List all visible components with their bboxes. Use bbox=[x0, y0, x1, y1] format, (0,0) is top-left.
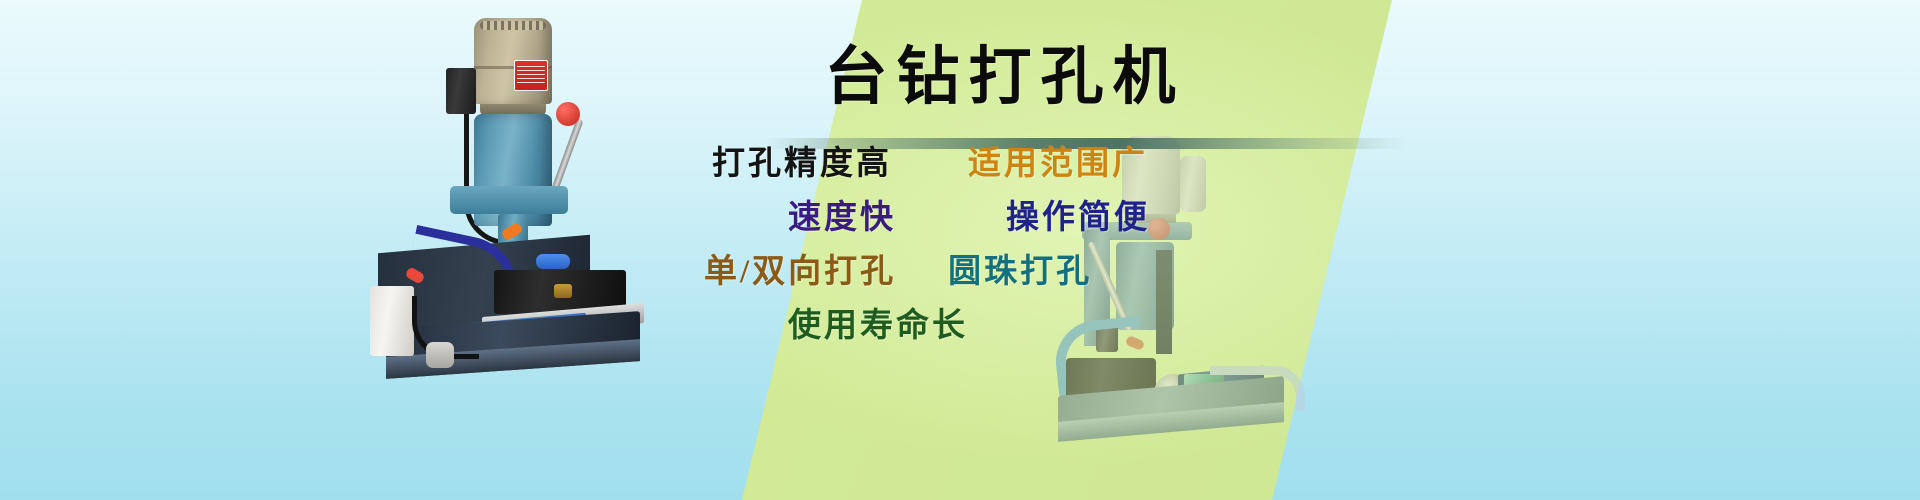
capacitor-box bbox=[446, 68, 476, 114]
drill-head-arm bbox=[450, 186, 568, 214]
power-plug bbox=[426, 342, 454, 368]
vise-brass-part bbox=[554, 284, 572, 298]
feature-item: 打孔精度高 bbox=[712, 144, 892, 184]
feature-item: 使用寿命长 bbox=[788, 306, 968, 346]
feature-item: 适用范围广 bbox=[968, 144, 1148, 184]
feature-row-2: 速度快 操作简便 bbox=[650, 198, 1370, 238]
motor-nameplate bbox=[514, 60, 548, 91]
feature-row-1: 打孔精度高 适用范围广 bbox=[650, 144, 1370, 184]
feature-item: 速度快 bbox=[788, 198, 896, 238]
feature-item: 圆珠打孔 bbox=[948, 252, 1092, 292]
left-product-photo bbox=[370, 18, 660, 370]
banner-title: 台钻打孔机 bbox=[700, 40, 1300, 114]
feature-item: 单/双向打孔 bbox=[704, 252, 896, 292]
product-banner: 台钻打孔机 打孔精度高 适用范围广 速度快 操作简便 单/双向打孔 圆珠打孔 使… bbox=[0, 0, 1920, 500]
feature-item: 操作简便 bbox=[1006, 198, 1150, 238]
feature-row-3: 单/双向打孔 圆珠打孔 bbox=[650, 252, 1370, 292]
blue-nozzle bbox=[536, 254, 570, 269]
control-box bbox=[370, 286, 414, 356]
motor-vent-icon bbox=[480, 21, 546, 30]
feature-row-4: 使用寿命长 bbox=[650, 306, 1370, 346]
feed-lever-knob bbox=[556, 102, 580, 126]
